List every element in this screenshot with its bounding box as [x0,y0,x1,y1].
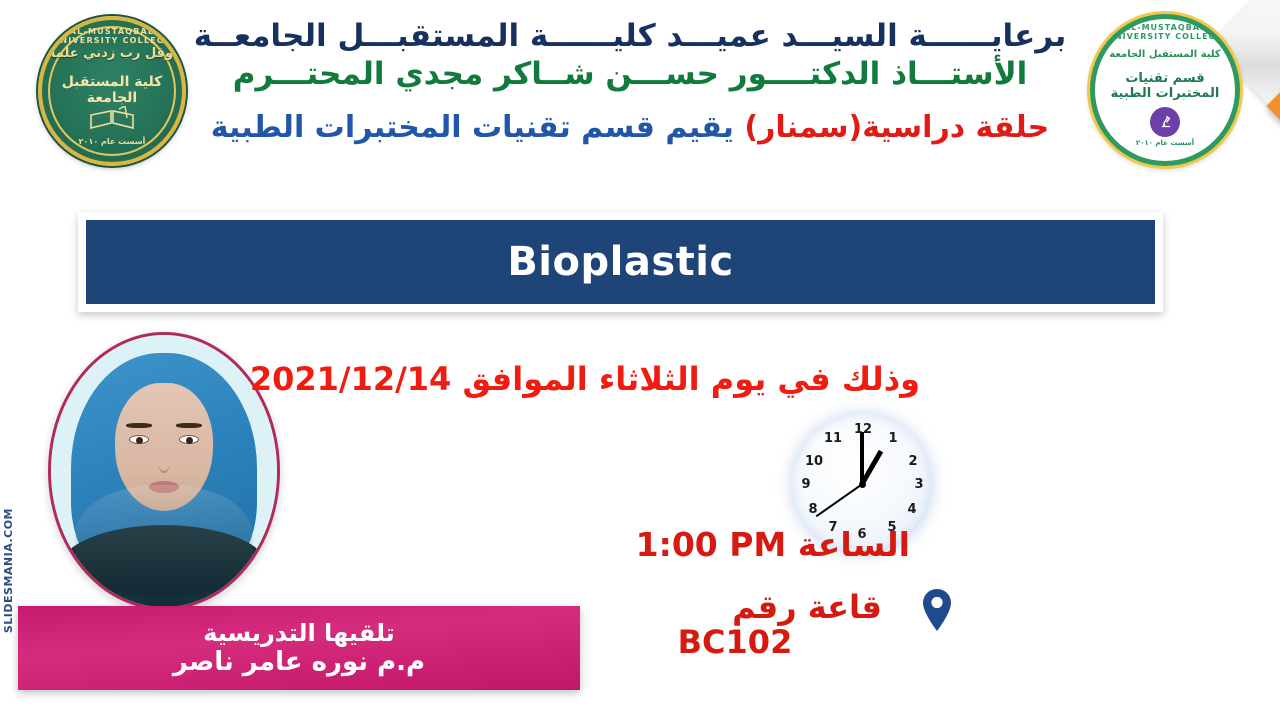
logo-right-department: قسم تقنيات المختبرات الطبية [1095,71,1235,101]
portrait-nose [158,451,170,473]
logo-right-college: كلية المستقبل الجامعة [1095,49,1235,60]
header-block: برعايــــــة السيـــد عميـــد كليــــــة… [190,18,1070,146]
clock-number-1: 1 [885,431,901,446]
event-location: قاعة رقم BC102 [622,590,882,659]
header-department-label: يقيم قسم تقنيات المختبرات الطبية [211,110,734,145]
presenter-portrait [48,332,280,610]
logo-left-name: كلية المستقبل الجامعة [42,74,182,106]
presenter-role: تلقيها التدريسية [203,619,395,647]
clock-center-pin [859,481,866,488]
watermark-slidesmania: SLIDESMANIA.COM [2,508,15,633]
logo-left-outer-text: AL-MUSTAQBAL UNIVERSITY COLLEGE [42,27,182,45]
clock-number-10: 10 [805,454,821,469]
title-bar: Bioplastic [86,220,1155,304]
event-date: وذلك في يوم الثلاثاء الموافق 2021/12/14 [300,360,920,398]
event-time-value: 1:00 PM [636,525,787,564]
open-book-icon [89,106,135,132]
portrait-hijab-fold [75,485,253,595]
clock-number-9: 9 [798,477,814,492]
header-line-3: حلقة دراسية(سمنار) يقيم قسم تقنيات المخت… [190,110,1070,147]
event-time-label: الساعة [798,525,910,564]
event-location-label: قاعة رقم [732,588,882,626]
clock-number-11: 11 [824,431,840,446]
event-room-number: BC102 [622,625,848,660]
logo-right-outer-text: AL-MUSTAQBAL UNIVERSITY COLLEGE [1095,23,1235,41]
portrait-brow-right [176,423,202,428]
header-line-2: الأستـــاذ الدكتــــور حســـن شــاكر مجد… [190,56,1070,94]
logo-left-year: أسست عام ٢٠١٠ [42,137,182,146]
header-line-1: برعايــــــة السيـــد عميـــد كليــــــة… [190,18,1070,56]
title-bar-container: Bioplastic [78,212,1163,312]
clock-second-hand [816,483,863,516]
poster-canvas: AL-MUSTAQBAL UNIVERSITY COLLEGE وقل رب ز… [0,0,1280,720]
microscope-icon [1150,107,1180,137]
header-seminar-label: حلقة دراسية(سمنار) [744,110,1049,145]
page-title: Bioplastic [507,239,733,285]
department-logo-right: AL-MUSTAQBAL UNIVERSITY COLLEGE كلية الم… [1090,14,1240,166]
decor-diamond-orange [1266,66,1280,145]
portrait-brow-left [126,423,152,428]
clock-number-3: 3 [911,477,927,492]
portrait-pupil-left [136,437,143,444]
map-pin-icon [921,588,953,632]
portrait-pupil-right [186,437,193,444]
logo-right-year: أسست عام ٢٠١٠ [1095,139,1235,147]
clock-number-4: 4 [904,502,920,517]
event-time: الساعة 1:00 PM [610,525,910,564]
university-logo-left: AL-MUSTAQBAL UNIVERSITY COLLEGE وقل رب ز… [38,16,186,166]
presenter-banner: تلقيها التدريسية م.م نوره عامر ناصر [18,606,580,690]
clock-number-2: 2 [905,454,921,469]
logo-left-motto: وقل رب زدني علما [42,46,182,61]
presenter-name: م.م نوره عامر ناصر [173,647,425,678]
